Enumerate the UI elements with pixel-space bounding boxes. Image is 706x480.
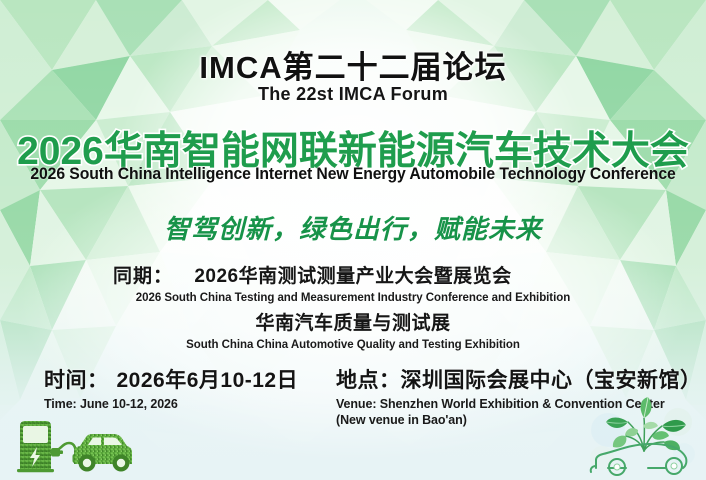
concurrent-event-2-name-en: South China China Automotive Quality and… <box>0 339 706 351</box>
conference-poster: IMCA第二十二届论坛 The 22st IMCA Forum 2026华南智能… <box>0 0 706 480</box>
event-venue-label-cn: 地点： <box>336 369 401 392</box>
conference-title-en: 2026 South China Intelligence Internet N… <box>16 165 690 184</box>
event-time-en: Time: June 10-12, 2026 <box>44 397 298 411</box>
event-time-label-cn: 时间： <box>44 369 109 392</box>
electric-car-shape <box>74 434 132 472</box>
concurrent-events-row-1: 同期： 2026华南测试测量产业大会暨展览会 2026 South China … <box>0 261 706 304</box>
event-time-block: 时间：2026年6月10-12日 Time: June 10-12, 2026 <box>44 364 298 411</box>
forum-title-cn: IMCA第二十二届论坛 <box>0 42 706 87</box>
ev-charging-station-and-car-icon <box>14 416 134 476</box>
charging-station-body <box>17 421 54 472</box>
concurrent-event-1-name-en: 2026 South China Testing and Measurement… <box>0 292 706 304</box>
leaf-cluster <box>606 397 686 450</box>
leaf-sprouting-car-icon <box>586 396 698 480</box>
event-venue-cn: 地点：深圳国际会展中心（宝安新馆） <box>336 364 702 394</box>
concurrent-event-2-name-cn: 华南汽车质量与测试展 <box>0 308 706 335</box>
concurrent-events-row-2: 华南汽车质量与测试展 South China China Automotive … <box>0 308 706 351</box>
concurrent-event-1-name-cn: 2026华南测试测量产业大会暨展览会 <box>0 261 706 288</box>
event-time-value-cn: 2026年6月10-12日 <box>117 369 299 392</box>
conference-slogan: 智驾创新，绿色出行，赋能未来 <box>0 209 706 246</box>
concurrent-label: 同期： <box>113 261 173 288</box>
event-time-cn: 时间：2026年6月10-12日 <box>44 364 298 394</box>
event-venue-value-cn: 深圳国际会展中心（宝安新馆） <box>401 369 702 392</box>
forum-title-en: The 22st IMCA Forum <box>0 84 706 105</box>
